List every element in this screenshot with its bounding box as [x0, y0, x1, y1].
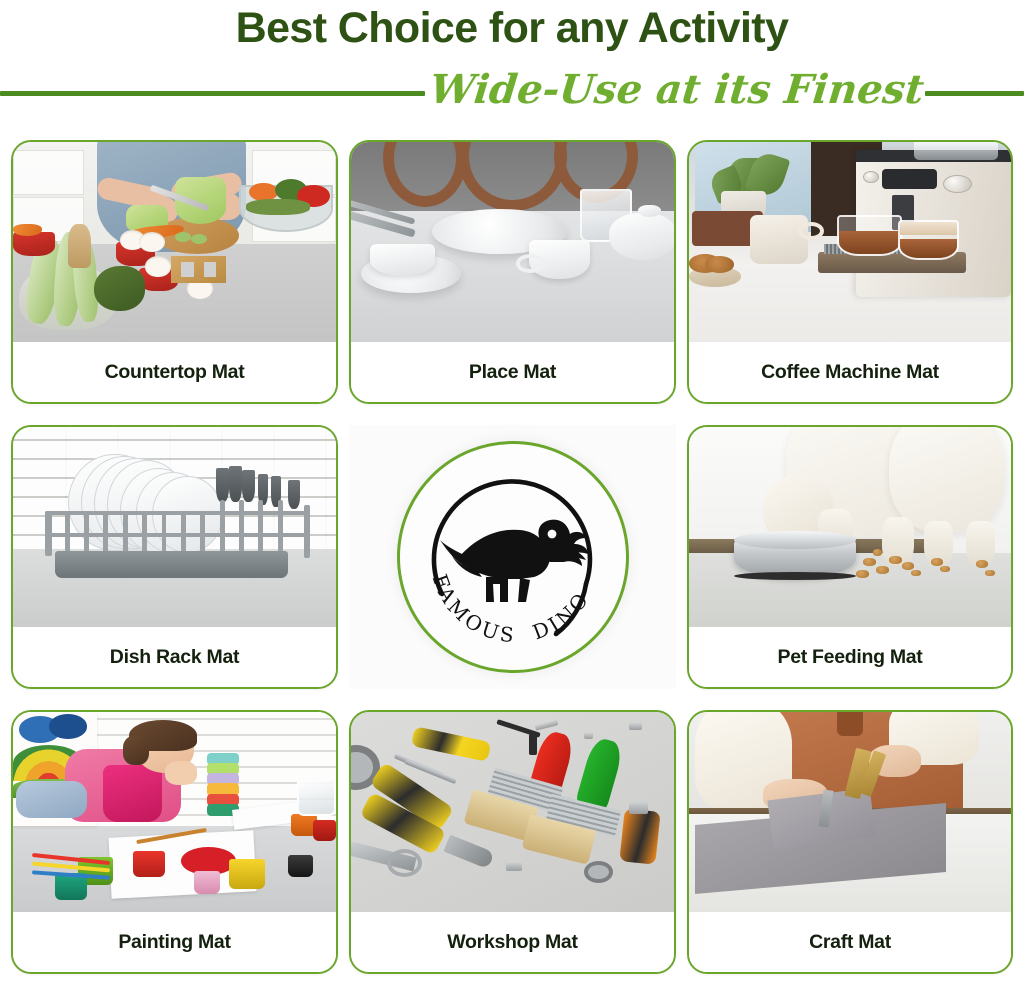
brand-logo: FAMOUS DINO FAMOUS DINO	[349, 425, 676, 689]
card-caption: Countertop Mat	[13, 342, 336, 402]
card-caption: Craft Mat	[689, 912, 1011, 972]
logo-badge: FAMOUS DINO FAMOUS DINO	[397, 441, 629, 673]
card-label: Pet Feeding Mat	[777, 646, 922, 669]
card-image-coffee-machine-mat	[689, 142, 1011, 346]
divider-left	[0, 91, 425, 96]
card-pet-feeding-mat[interactable]: Pet Feeding Mat	[687, 425, 1013, 689]
card-label: Painting Mat	[118, 931, 230, 954]
card-label: Place Mat	[469, 361, 556, 384]
card-image-place-mat	[351, 142, 674, 346]
promo-infographic: Best Choice for any Activity Wide-Use at…	[0, 0, 1024, 1004]
page-title: Best Choice for any Activity	[0, 2, 1024, 54]
header: Best Choice for any Activity Wide-Use at…	[0, 0, 1024, 130]
card-label: Countertop Mat	[105, 361, 245, 384]
card-coffee-machine-mat[interactable]: Coffee Machine Mat	[687, 140, 1013, 404]
card-countertop-mat[interactable]: Countertop Mat	[11, 140, 338, 404]
card-workshop-mat[interactable]: Workshop Mat	[349, 710, 676, 974]
card-image-painting-mat	[13, 712, 336, 916]
card-dish-rack-mat[interactable]: Dish Rack Mat	[11, 425, 338, 689]
card-caption: Place Mat	[351, 342, 674, 402]
card-caption: Pet Feeding Mat	[689, 627, 1011, 687]
triceratops-dinosaur-icon: FAMOUS DINO	[400, 444, 632, 676]
card-caption: Dish Rack Mat	[13, 627, 336, 687]
divider-right	[925, 91, 1024, 96]
card-image-workshop-mat	[351, 712, 674, 916]
card-image-dish-rack-mat	[13, 427, 336, 631]
card-image-countertop-mat	[13, 142, 336, 346]
card-caption: Painting Mat	[13, 912, 336, 972]
card-craft-mat[interactable]: Craft Mat	[687, 710, 1013, 974]
card-image-craft-mat	[689, 712, 1011, 916]
card-caption: Coffee Machine Mat	[689, 342, 1011, 402]
card-label: Workshop Mat	[447, 931, 577, 954]
page-subtitle: Wide-Use at its Finest	[427, 62, 925, 118]
card-grid: Countertop Mat	[11, 140, 1013, 982]
card-painting-mat[interactable]: Painting Mat	[11, 710, 338, 974]
card-label: Coffee Machine Mat	[761, 361, 939, 384]
subtitle-row: Wide-Use at its Finest	[0, 62, 1024, 118]
svg-text:DINO: DINO	[529, 586, 594, 644]
card-caption: Workshop Mat	[351, 912, 674, 972]
card-image-pet-feeding-mat	[689, 427, 1011, 631]
card-label: Craft Mat	[809, 931, 891, 954]
card-label: Dish Rack Mat	[110, 646, 239, 669]
card-place-mat[interactable]: Place Mat	[349, 140, 676, 404]
